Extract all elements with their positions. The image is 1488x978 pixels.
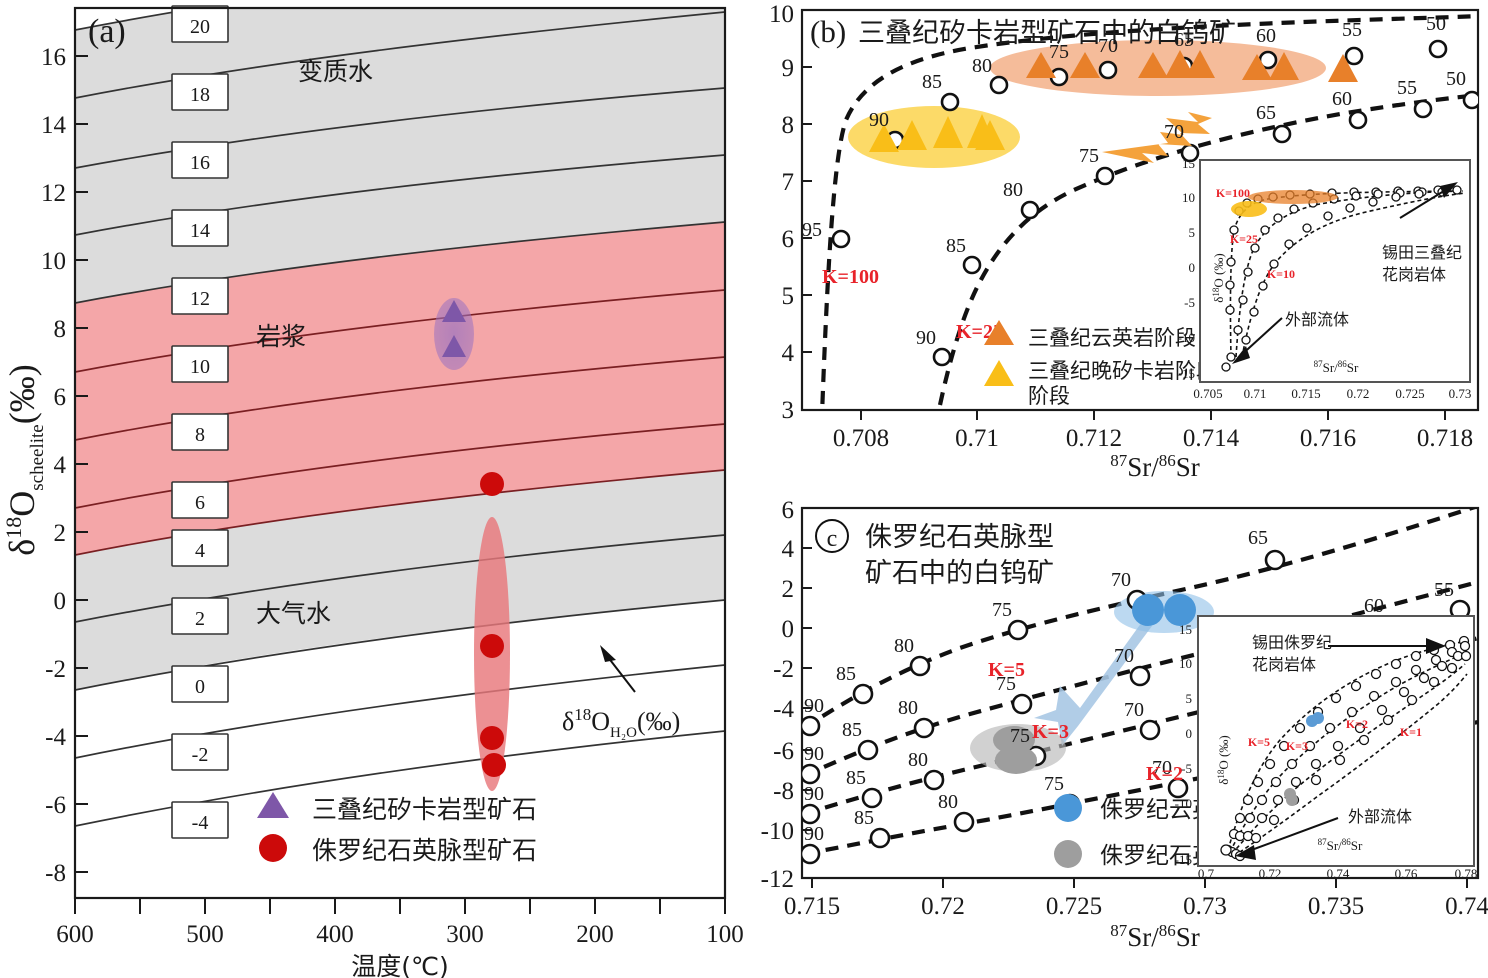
panel-a-data-triassic <box>434 298 474 370</box>
svg-text:80: 80 <box>894 635 914 657</box>
ytick-10: 10 <box>41 248 66 275</box>
contour-label-neg2: -2 <box>192 744 209 766</box>
inset-c-fluid: 外部流体 <box>1348 807 1412 826</box>
c-k-label-2: K=2 <box>1146 763 1183 785</box>
svg-text:75: 75 <box>1079 145 1099 167</box>
c-k-label-5: K=5 <box>988 659 1025 681</box>
panel-a-xaxis: 600 500 400 300 200 100 <box>56 898 744 948</box>
svg-text:10: 10 <box>1182 190 1195 205</box>
anno-delta: δ <box>562 707 574 736</box>
svg-text:80: 80 <box>1003 179 1023 201</box>
contour-label-10: 10 <box>190 356 210 378</box>
svg-text:δ18Oscheelite(‰): δ18Oscheelite(‰) <box>1 364 48 555</box>
b-ytick-5: 5 <box>782 283 795 310</box>
b-ytick-10: 10 <box>769 1 794 28</box>
inset-c-granite-line2: 花岗岩体 <box>1252 655 1316 674</box>
data-jurassic-greisen-1 <box>1132 594 1164 626</box>
b-xtick-0714: 0.714 <box>1183 425 1240 452</box>
svg-text:0.74: 0.74 <box>1327 866 1350 881</box>
inset-c-granite-line1: 锡田侏罗纪 <box>1252 633 1332 652</box>
svg-text:5: 5 <box>1186 691 1193 706</box>
panel-b: 95 90 85 80 75 70 65 60 55 50 90 85 80 7… <box>760 0 1488 478</box>
panel-a-legend: 三叠纪矽卡岩型矿石 侏罗纪石英脉型矿石 <box>257 792 537 865</box>
svg-text:0.72: 0.72 <box>1347 386 1370 401</box>
anno-unit: (‰) <box>637 707 680 736</box>
panel-c-xlabel: 87Sr/86Sr <box>1110 921 1200 952</box>
svg-text:0: 0 <box>1186 726 1193 741</box>
c-xtick-073: 0.73 <box>1183 893 1227 920</box>
svg-text:55: 55 <box>1342 19 1362 41</box>
xtick-100: 100 <box>706 921 744 948</box>
svg-text:15: 15 <box>1182 156 1195 171</box>
ytick-neg8: -8 <box>45 860 66 887</box>
svg-text:85: 85 <box>946 235 966 257</box>
b-xtick-0712: 0.712 <box>1066 425 1122 452</box>
svg-text:85: 85 <box>854 807 874 829</box>
contour-label-18: 18 <box>190 84 210 106</box>
svg-text:50: 50 <box>1426 13 1446 35</box>
svg-text:65: 65 <box>1256 102 1276 124</box>
ytick-4: 4 <box>54 452 67 479</box>
c-ytick-4: 4 <box>782 536 795 563</box>
ytick-2: 2 <box>54 520 67 547</box>
svg-text:85: 85 <box>922 71 942 93</box>
svg-text:90: 90 <box>916 327 936 349</box>
svg-text:80: 80 <box>898 697 918 719</box>
svg-text:5: 5 <box>1189 225 1196 240</box>
svg-text:0.725: 0.725 <box>1395 386 1424 401</box>
svg-text:60: 60 <box>1256 25 1276 47</box>
panel-a-label: (a) <box>88 13 126 50</box>
svg-text:85: 85 <box>836 663 856 685</box>
c-ytick-neg8: -8 <box>773 778 794 805</box>
ylab-sup: 18 <box>1 517 26 539</box>
ylab-unit: (‰) <box>2 364 42 424</box>
zone-label-metamorphic: 变质水 <box>298 57 373 86</box>
ylab-o: O <box>2 491 42 517</box>
b-ytick-6: 6 <box>782 226 795 253</box>
c-xtick-072: 0.72 <box>921 893 965 920</box>
svg-text:90: 90 <box>804 695 824 717</box>
svg-text:0.71: 0.71 <box>1244 386 1267 401</box>
inset-granite-line2: 花岗岩体 <box>1382 265 1446 284</box>
xtick-200: 200 <box>576 921 614 948</box>
svg-text:0.76: 0.76 <box>1395 866 1418 881</box>
legend-marker-jurassic-quartz <box>1054 840 1082 868</box>
svg-text:90: 90 <box>869 109 889 131</box>
svg-text:-5: -5 <box>1184 295 1195 310</box>
b-ytick-7: 7 <box>782 169 795 196</box>
ylab-sub: scheelite <box>27 424 48 490</box>
contour-label-8: 8 <box>195 424 205 446</box>
anno-sup: 18 <box>574 705 591 724</box>
inset-c-k5: K=5 <box>1248 735 1270 749</box>
c-ytick-0: 0 <box>782 616 795 643</box>
b-xtick-0708: 0.708 <box>833 425 889 452</box>
panel-a-dO18-h2o-annotation: δ18OH₂O(‰) <box>562 645 680 741</box>
svg-text:90: 90 <box>804 743 824 765</box>
svg-text:δ18OH₂O(‰): δ18OH₂O(‰) <box>562 705 680 741</box>
c-k-label-3: K=3 <box>1032 721 1069 743</box>
svg-text:80: 80 <box>938 791 958 813</box>
k-label-100: K=100 <box>822 266 879 288</box>
xtick-300: 300 <box>446 921 484 948</box>
svg-text:75: 75 <box>992 599 1012 621</box>
contour-label-6: 6 <box>195 492 205 514</box>
legend-marker-late-skarn <box>984 360 1014 386</box>
svg-text:65: 65 <box>1248 527 1268 549</box>
svg-text:-5: -5 <box>1181 761 1192 776</box>
contour-label-neg4: -4 <box>192 812 209 834</box>
anno-sub: H₂O <box>610 725 637 741</box>
zone-label-meteoric: 大气水 <box>256 599 331 628</box>
ytick-8: 8 <box>54 316 67 343</box>
panel-b-label: (b) <box>810 14 846 49</box>
panel-c-label-group: c <box>816 520 848 552</box>
ytick-neg6: -6 <box>45 792 66 819</box>
svg-text:55: 55 <box>1397 77 1417 99</box>
inset-k-25: K=25 <box>1230 232 1258 246</box>
svg-text:85: 85 <box>846 767 866 789</box>
svg-text:85: 85 <box>842 719 862 741</box>
c-ytick-neg4: -4 <box>773 696 794 723</box>
svg-text:70: 70 <box>1164 121 1184 143</box>
legend-label-late-skarn-line2: 阶段 <box>1028 384 1070 408</box>
inset-c-k2: K=2 <box>1346 717 1368 731</box>
contour-label-16: 16 <box>190 152 210 174</box>
b-ytick-8: 8 <box>782 112 795 139</box>
ytick-6: 6 <box>54 384 67 411</box>
c-ytick-neg10: -10 <box>761 818 794 845</box>
c-ytick-2: 2 <box>782 576 795 603</box>
svg-text:-15: -15 <box>1178 366 1195 381</box>
inset-k-100: K=100 <box>1216 186 1250 200</box>
svg-text:90: 90 <box>804 783 824 805</box>
b-ytick-4: 4 <box>782 340 795 367</box>
c-ytick-neg12: -12 <box>761 866 794 893</box>
xtick-600: 600 <box>56 921 94 948</box>
panel-a-ylabel: δ18Oscheelite(‰) <box>1 364 48 555</box>
svg-text:0.72: 0.72 <box>1259 866 1282 881</box>
ytick-0: 0 <box>54 588 67 615</box>
svg-text:15: 15 <box>1179 622 1192 637</box>
svg-text:55: 55 <box>1434 579 1454 601</box>
b-ytick-9: 9 <box>782 55 795 82</box>
ytick-neg2: -2 <box>45 656 66 683</box>
c-xtick-0715: 0.715 <box>784 893 840 920</box>
legend-label-jurassic: 侏罗纪石英脉型矿石 <box>312 836 537 865</box>
svg-text:10: 10 <box>1179 656 1192 671</box>
svg-text:0.73: 0.73 <box>1449 386 1472 401</box>
panel-c-title-line1: 侏罗纪石英脉型 <box>865 522 1054 553</box>
inset-c-k3: K=3 <box>1286 739 1308 753</box>
ytick-12: 12 <box>41 180 66 207</box>
legend-marker-triangle <box>257 792 289 818</box>
panel-b-xlabel: 87Sr/86Sr <box>1110 451 1200 478</box>
contour-label-20: 20 <box>190 16 210 38</box>
ytick-neg4: -4 <box>45 724 66 751</box>
c-xtick-0735: 0.735 <box>1308 893 1364 920</box>
ytick-14: 14 <box>41 112 67 139</box>
panel-c-xaxis: 0.715 0.72 0.725 0.73 0.735 0.74 <box>784 878 1488 920</box>
contour-label-12: 12 <box>190 288 210 310</box>
svg-text:60: 60 <box>1364 595 1384 617</box>
svg-text:75: 75 <box>1010 725 1030 747</box>
svg-text:0.7: 0.7 <box>1198 866 1215 881</box>
c-ytick-6: 6 <box>782 497 795 524</box>
c-xtick-0725: 0.725 <box>1046 893 1102 920</box>
svg-text:70: 70 <box>1124 699 1144 721</box>
panel-b-title: 三叠纪矽卡岩型矿石中的白钨矿 <box>858 18 1236 49</box>
legend-marker-circle <box>259 834 287 862</box>
xtick-400: 400 <box>316 921 354 948</box>
panel-a-xlabel: 温度(℃) <box>351 952 449 978</box>
contour-label-2: 2 <box>195 608 205 630</box>
panel-a: 20 18 16 14 12 10 8 6 4 2 0 -2 -4 变质水 岩浆… <box>0 0 760 978</box>
contour-label-4: 4 <box>195 540 205 562</box>
svg-text:0.715: 0.715 <box>1291 386 1320 401</box>
zone-label-magmatic: 岩浆 <box>256 322 306 351</box>
panel-c: 90 85 80 75 70 65 90 85 80 75 70 65 60 5… <box>760 478 1488 978</box>
contour-label-14: 14 <box>190 220 210 242</box>
panel-c-inset: 锡田侏罗纪 花岗岩体 外部流体 K=5 K=3 K=2 K=1 15 10 5 … <box>1175 616 1478 881</box>
contour-label-0: 0 <box>195 676 205 698</box>
panel-b-inset: K=100 K=25 K=10 锡田三叠纪 花岗岩体 外部流体 15 10 5 … <box>1178 156 1472 401</box>
c-xtick-074: 0.74 <box>1445 893 1488 920</box>
legend-label-triassic: 三叠纪矽卡岩型矿石 <box>312 795 537 824</box>
svg-text:90: 90 <box>804 823 824 845</box>
svg-text:-10: -10 <box>1175 796 1192 811</box>
c-ytick-neg2: -2 <box>773 656 794 683</box>
b-xtick-071: 0.71 <box>955 425 999 452</box>
b-xtick-0716: 0.716 <box>1300 425 1356 452</box>
xtick-500: 500 <box>186 921 224 948</box>
panel-c-title-line2: 矿石中的白钨矿 <box>865 558 1054 589</box>
svg-text:0.705: 0.705 <box>1193 386 1222 401</box>
b-xtick-0718: 0.718 <box>1417 425 1473 452</box>
svg-text:75: 75 <box>1044 773 1064 795</box>
svg-text:70: 70 <box>1111 569 1131 591</box>
svg-text:70: 70 <box>1114 645 1134 667</box>
legend-marker-jurassic-greisen <box>1054 794 1082 822</box>
panel-c-label: c <box>827 526 838 552</box>
inset-k-10: K=10 <box>1267 267 1295 281</box>
svg-text:-15: -15 <box>1175 852 1192 867</box>
ytick-16: 16 <box>41 44 66 71</box>
c-ytick-neg6: -6 <box>773 738 794 765</box>
svg-text:80: 80 <box>972 55 992 77</box>
panel-b-xaxis: 0.708 0.71 0.712 0.714 0.716 0.718 <box>833 410 1473 452</box>
svg-text:-10: -10 <box>1178 330 1195 345</box>
panel-b-yaxis: 10 9 8 7 6 5 4 3 <box>769 1 812 424</box>
svg-text:60: 60 <box>1332 88 1352 110</box>
inset-granite-line1: 锡田三叠纪 <box>1382 243 1462 262</box>
svg-text:50: 50 <box>1446 68 1466 90</box>
data-jurassic-quartz-2 <box>995 746 1037 774</box>
b-ytick-3: 3 <box>782 397 795 424</box>
ylab-delta: δ <box>2 539 42 556</box>
svg-text:0: 0 <box>1189 260 1196 275</box>
legend-label-greisen: 三叠纪云英岩阶段 <box>1028 326 1196 350</box>
inset-fluid-label: 外部流体 <box>1285 310 1349 329</box>
anno-o: O <box>591 707 610 736</box>
svg-text:80: 80 <box>908 749 928 771</box>
inset-c-k1: K=1 <box>1400 725 1422 739</box>
